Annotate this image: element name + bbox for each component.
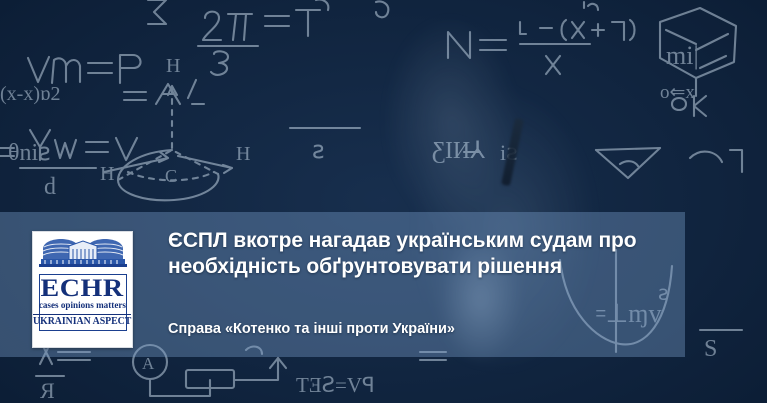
echr-wordmark: ECHR: [41, 276, 124, 301]
echr-logo[interactable]: ECHR cases opinions matters UKRAINIAN AS…: [32, 231, 133, 348]
echr-logo-textbox: ECHR cases opinions matters UKRAINIAN AS…: [39, 274, 127, 331]
echr-building-emblem: [39, 237, 127, 273]
echr-project-name: UKRAINIAN ASPECT: [33, 314, 131, 328]
banner-subtitle: Справа «Котенко та інші проти України»: [168, 320, 668, 339]
banner-image: H H H C mi| o⇐x (x-x)ɒ2: [0, 0, 767, 403]
echr-tagline: cases opinions matters: [39, 301, 126, 312]
banner-headline: ЄСПЛ вкотре нагадав українським судам пр…: [168, 228, 668, 279]
